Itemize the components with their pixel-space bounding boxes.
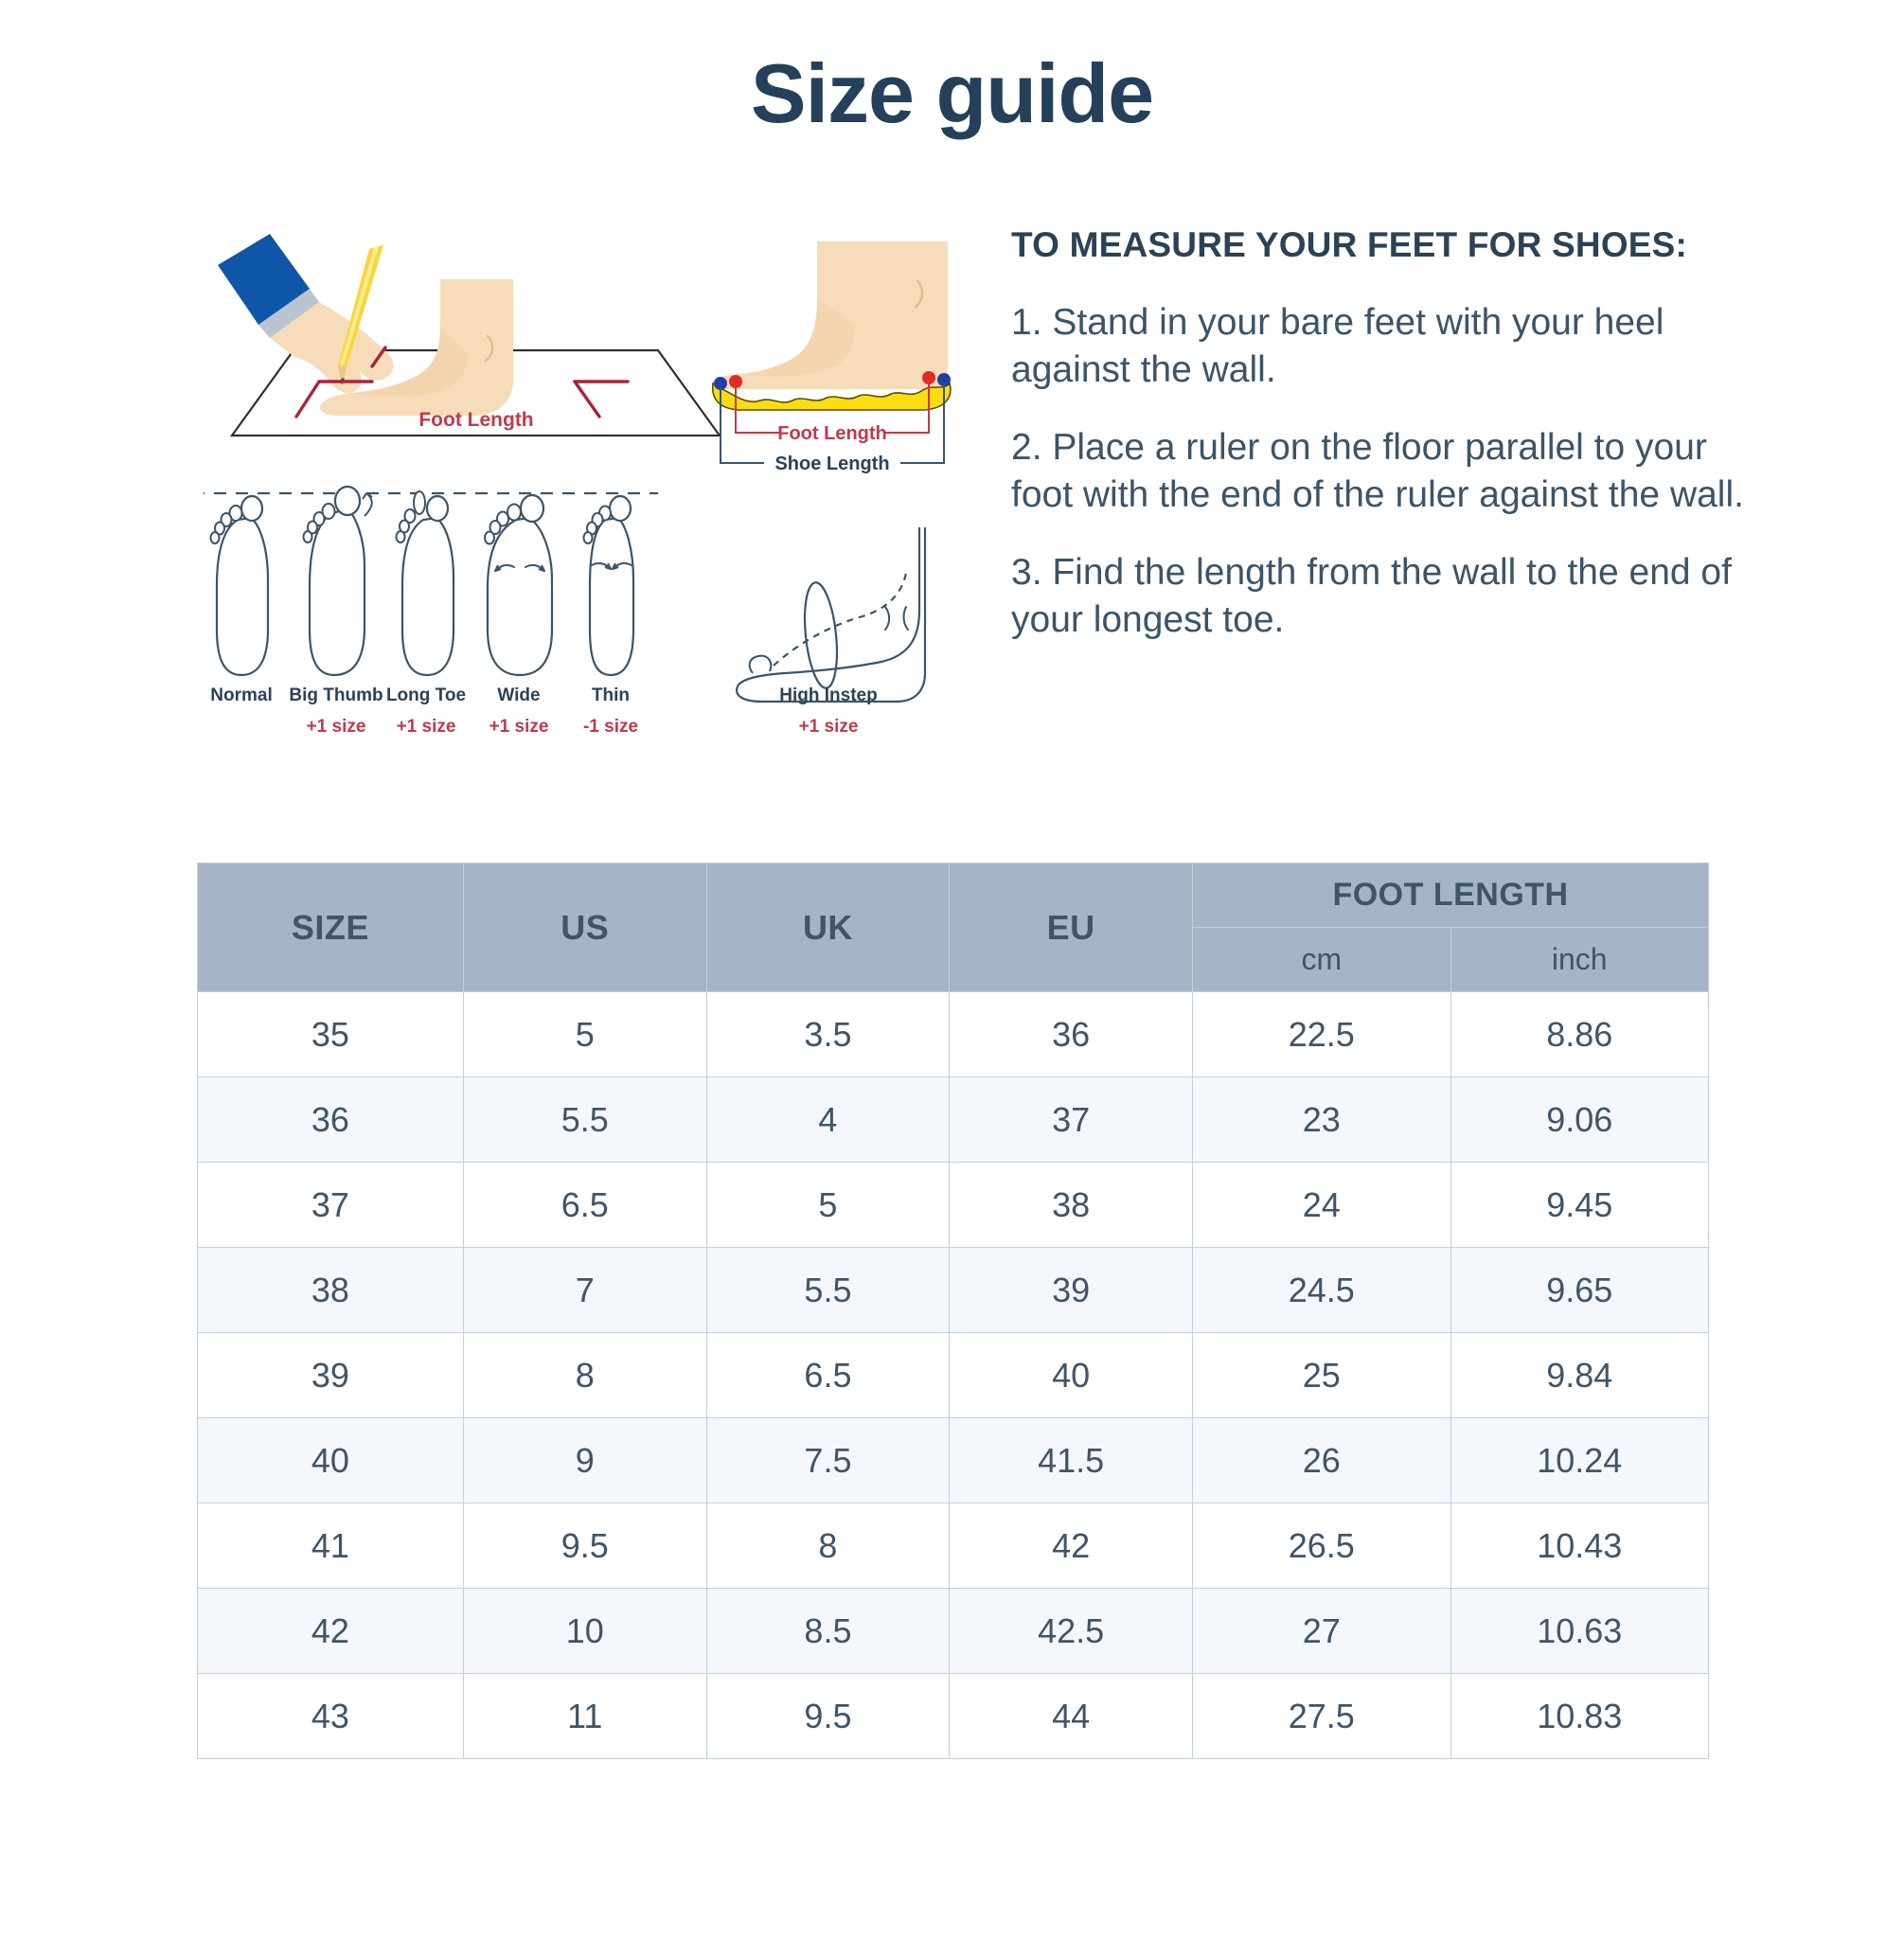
cell-inch: 9.65 [1450, 1248, 1709, 1333]
table-row: 39 8 6.5 40 25 9.84 [198, 1333, 1709, 1418]
table-row: 36 5.5 4 37 23 9.06 [198, 1077, 1709, 1163]
cell-cm: 22.5 [1193, 992, 1450, 1077]
illustrations-svg: Foot Length Foot Le [204, 222, 980, 781]
cell-eu: 42 [950, 1503, 1193, 1589]
header-us: US [463, 863, 706, 992]
cell-size: 43 [198, 1674, 464, 1759]
foot-type-label-0: Normal [210, 685, 272, 705]
cell-inch: 10.83 [1450, 1674, 1709, 1759]
foot-outline-long-toe [397, 491, 454, 675]
foot-type-label-4: Thin [592, 685, 630, 705]
table-row: 37 6.5 5 38 24 9.45 [198, 1163, 1709, 1248]
cell-us: 9.5 [463, 1503, 706, 1589]
cell-uk: 4 [706, 1077, 950, 1163]
header-foot-length-group: FOOT LENGTH [1193, 863, 1709, 928]
cell-cm: 26 [1193, 1418, 1450, 1503]
instructions-panel: TO MEASURE YOUR FEET FOR SHOES: 1. Stand… [1011, 225, 1778, 673]
foot-length-label-left: Foot Length [418, 409, 533, 431]
header-cm: cm [1193, 928, 1450, 992]
size-guide-page: Size guide [0, 0, 1904, 1939]
cell-cm: 25 [1193, 1333, 1450, 1418]
cell-uk: 8.5 [706, 1589, 950, 1674]
cell-us: 5 [463, 992, 706, 1077]
table-row: 35 5 3.5 36 22.5 8.86 [198, 992, 1709, 1077]
instruction-step-3: 3. Find the length from the wall to the … [1011, 549, 1778, 644]
trace-foot-illustration: Foot Length [218, 234, 720, 436]
foot-type-adjust-5: +1 size [799, 717, 859, 737]
foot-outline-wide [485, 495, 552, 675]
cell-uk: 5 [706, 1163, 950, 1248]
cell-uk: 3.5 [706, 992, 950, 1077]
cell-size: 37 [198, 1163, 464, 1248]
foot-length-label-right: Foot Length [777, 423, 887, 444]
instruction-step-2: 2. Place a ruler on the floor parallel t… [1011, 424, 1778, 519]
header-eu: EU [950, 863, 1193, 992]
foot-type-adjust-2: +1 size [397, 717, 456, 737]
cell-us: 10 [463, 1589, 706, 1674]
table-header-row-1: SIZE US UK EU FOOT LENGTH [198, 863, 1709, 928]
cell-uk: 7.5 [706, 1418, 950, 1503]
foot-type-label-5: High Instep [779, 685, 877, 705]
cell-eu: 40 [950, 1333, 1193, 1418]
cell-us: 11 [463, 1674, 706, 1759]
cell-us: 5.5 [463, 1077, 706, 1163]
cell-size: 40 [198, 1418, 464, 1503]
foot-type-label-3: Wide [497, 685, 540, 705]
foot-outline-thin [584, 496, 634, 675]
size-table-container: SIZE US UK EU FOOT LENGTH cm inch 35 5 3… [197, 863, 1709, 1759]
size-table-head: SIZE US UK EU FOOT LENGTH cm inch [198, 863, 1709, 992]
cell-eu: 41.5 [950, 1418, 1193, 1503]
cell-uk: 5.5 [706, 1248, 950, 1333]
instructions-heading: TO MEASURE YOUR FEET FOR SHOES: [1011, 225, 1778, 265]
foot-type-adjust-4: -1 size [583, 717, 638, 737]
header-uk: UK [706, 863, 950, 992]
cell-inch: 10.24 [1450, 1418, 1709, 1503]
foot-outline-big-thumb [304, 487, 373, 675]
cell-us: 6.5 [463, 1163, 706, 1248]
cell-uk: 6.5 [706, 1333, 950, 1418]
foot-outline-normal [211, 496, 269, 675]
measurement-illustrations: Foot Length Foot Le [204, 222, 980, 781]
cell-eu: 42.5 [950, 1589, 1193, 1674]
size-table-body: 35 5 3.5 36 22.5 8.86 36 5.5 4 37 23 9.0… [198, 992, 1709, 1759]
cell-size: 39 [198, 1333, 464, 1418]
foot-type-label-2: Long Toe [386, 685, 466, 705]
table-row: 41 9.5 8 42 26.5 10.43 [198, 1503, 1709, 1589]
shoe-length-illustration: Foot Length Shoe Length [713, 241, 951, 474]
cell-cm: 24.5 [1193, 1248, 1450, 1333]
cell-size: 36 [198, 1077, 464, 1163]
table-row: 40 9 7.5 41.5 26 10.24 [198, 1418, 1709, 1503]
cell-size: 38 [198, 1248, 464, 1333]
cell-cm: 27.5 [1193, 1674, 1450, 1759]
table-row: 42 10 8.5 42.5 27 10.63 [198, 1589, 1709, 1674]
cell-inch: 9.84 [1450, 1333, 1709, 1418]
cell-eu: 37 [950, 1077, 1193, 1163]
cell-size: 42 [198, 1589, 464, 1674]
table-row: 43 11 9.5 44 27.5 10.83 [198, 1674, 1709, 1759]
cell-inch: 10.43 [1450, 1503, 1709, 1589]
cell-us: 9 [463, 1418, 706, 1503]
header-size: SIZE [198, 863, 464, 992]
foot-outline-high-instep [737, 527, 925, 702]
header-inch: inch [1450, 928, 1709, 992]
cell-uk: 9.5 [706, 1674, 950, 1759]
foot-type-adjust-1: +1 size [307, 717, 366, 737]
cell-inch: 9.45 [1450, 1163, 1709, 1248]
cell-eu: 38 [950, 1163, 1193, 1248]
shoe-length-label: Shoe Length [774, 454, 889, 474]
cell-cm: 23 [1193, 1077, 1450, 1163]
cell-inch: 9.06 [1450, 1077, 1709, 1163]
cell-size: 35 [198, 992, 464, 1077]
cell-cm: 24 [1193, 1163, 1450, 1248]
size-table: SIZE US UK EU FOOT LENGTH cm inch 35 5 3… [197, 863, 1709, 1759]
cell-cm: 27 [1193, 1589, 1450, 1674]
page-title: Size guide [0, 45, 1904, 142]
table-row: 38 7 5.5 39 24.5 9.65 [198, 1248, 1709, 1333]
foot-type-adjust-3: +1 size [489, 717, 549, 737]
cell-eu: 36 [950, 992, 1193, 1077]
foot-type-label-1: Big Thumb [289, 685, 383, 705]
cell-us: 7 [463, 1248, 706, 1333]
cell-cm: 26.5 [1193, 1503, 1450, 1589]
cell-us: 8 [463, 1333, 706, 1418]
cell-eu: 39 [950, 1248, 1193, 1333]
cell-size: 41 [198, 1503, 464, 1589]
cell-uk: 8 [706, 1503, 950, 1589]
cell-eu: 44 [950, 1674, 1193, 1759]
cell-inch: 10.63 [1450, 1589, 1709, 1674]
instruction-step-1: 1. Stand in your bare feet with your hee… [1011, 299, 1778, 394]
cell-inch: 8.86 [1450, 992, 1709, 1077]
